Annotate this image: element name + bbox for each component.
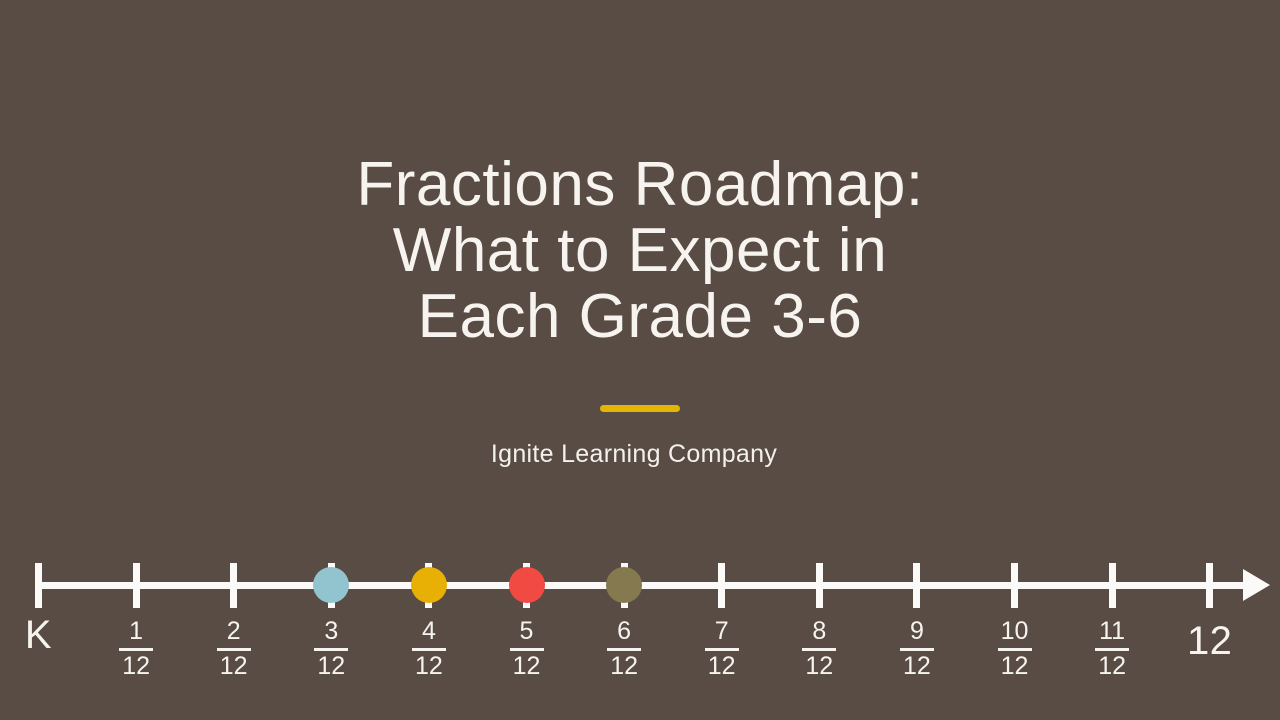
arrow-right-icon (1243, 569, 1270, 601)
fraction-bar (998, 648, 1032, 651)
fraction-denominator: 12 (607, 653, 641, 680)
tick-label-12: 12 (1170, 618, 1250, 664)
fraction-bar (217, 648, 251, 651)
title-slide: Fractions Roadmap: What to Expect in Eac… (0, 0, 1280, 720)
fraction-denominator: 12 (314, 653, 348, 680)
fraction-numerator: 2 (217, 618, 251, 645)
tick-label-8: 812 (779, 618, 859, 680)
title-line-2: What to Expect in (0, 218, 1280, 284)
tick-mark-10 (1011, 563, 1018, 608)
tick-label-1: 112 (96, 618, 176, 680)
tick-label-7: 712 (682, 618, 762, 680)
tick-label-11: 1112 (1072, 618, 1152, 680)
tick-label-3: 312 (291, 618, 371, 680)
divider-container (0, 399, 1280, 417)
fraction-10: 1012 (998, 618, 1032, 680)
fraction-4: 412 (412, 618, 446, 680)
fraction-denominator: 12 (217, 653, 251, 680)
tick-label-6: 612 (584, 618, 664, 680)
fraction-denominator: 12 (412, 653, 446, 680)
fraction-bar (510, 648, 544, 651)
tick-mark-2 (230, 563, 237, 608)
fraction-numerator: 10 (998, 618, 1032, 645)
fraction-denominator: 12 (900, 653, 934, 680)
fraction-numerator: 5 (510, 618, 544, 645)
tick-label-0: K (0, 612, 79, 658)
title-line-1: Fractions Roadmap: (0, 152, 1280, 218)
tick-mark-9 (913, 563, 920, 608)
gold-divider (600, 405, 680, 412)
data-point-dot-5 (509, 567, 545, 603)
fraction-2: 212 (217, 618, 251, 680)
fraction-bar (900, 648, 934, 651)
fraction-numerator: 8 (802, 618, 836, 645)
fraction-bar (1095, 648, 1129, 651)
tick-label-5: 512 (487, 618, 567, 680)
tick-mark-7 (718, 563, 725, 608)
fraction-numerator: 3 (314, 618, 348, 645)
fraction-3: 312 (314, 618, 348, 680)
fraction-5: 512 (510, 618, 544, 680)
tick-mark-0 (35, 563, 42, 608)
fraction-7: 712 (705, 618, 739, 680)
tick-mark-11 (1109, 563, 1116, 608)
fraction-denominator: 12 (705, 653, 739, 680)
page-title: Fractions Roadmap: What to Expect in Eac… (0, 152, 1280, 350)
fraction-bar (119, 648, 153, 651)
fraction-denominator: 12 (802, 653, 836, 680)
fraction-numerator: 4 (412, 618, 446, 645)
fraction-bar (314, 648, 348, 651)
fraction-numerator: 11 (1095, 618, 1129, 645)
fraction-denominator: 12 (998, 653, 1032, 680)
fraction-numerator: 7 (705, 618, 739, 645)
number-line-axis (35, 582, 1251, 589)
tick-label-2: 212 (194, 618, 274, 680)
data-point-dot-4 (411, 567, 447, 603)
fraction-denominator: 12 (1095, 653, 1129, 680)
tick-mark-8 (816, 563, 823, 608)
fraction-denominator: 12 (119, 653, 153, 680)
fraction-bar (412, 648, 446, 651)
tick-label-4: 412 (389, 618, 469, 680)
data-point-dot-3 (313, 567, 349, 603)
tick-label-10: 1012 (975, 618, 1055, 680)
data-point-dot-6 (606, 567, 642, 603)
fraction-8: 812 (802, 618, 836, 680)
subtitle: Ignite Learning Company (0, 438, 1268, 470)
tick-mark-1 (133, 563, 140, 608)
fraction-numerator: 9 (900, 618, 934, 645)
fractions-number-line: K1122123124125126127128129121012111212 (0, 540, 1280, 720)
fraction-1: 112 (119, 618, 153, 680)
fraction-numerator: 6 (607, 618, 641, 645)
fraction-6: 612 (607, 618, 641, 680)
fraction-denominator: 12 (510, 653, 544, 680)
tick-mark-12 (1206, 563, 1213, 608)
fraction-numerator: 1 (119, 618, 153, 645)
fraction-9: 912 (900, 618, 934, 680)
fraction-bar (802, 648, 836, 651)
title-line-3: Each Grade 3-6 (0, 284, 1280, 350)
tick-label-9: 912 (877, 618, 957, 680)
fraction-bar (705, 648, 739, 651)
fraction-11: 1112 (1095, 618, 1129, 680)
fraction-bar (607, 648, 641, 651)
